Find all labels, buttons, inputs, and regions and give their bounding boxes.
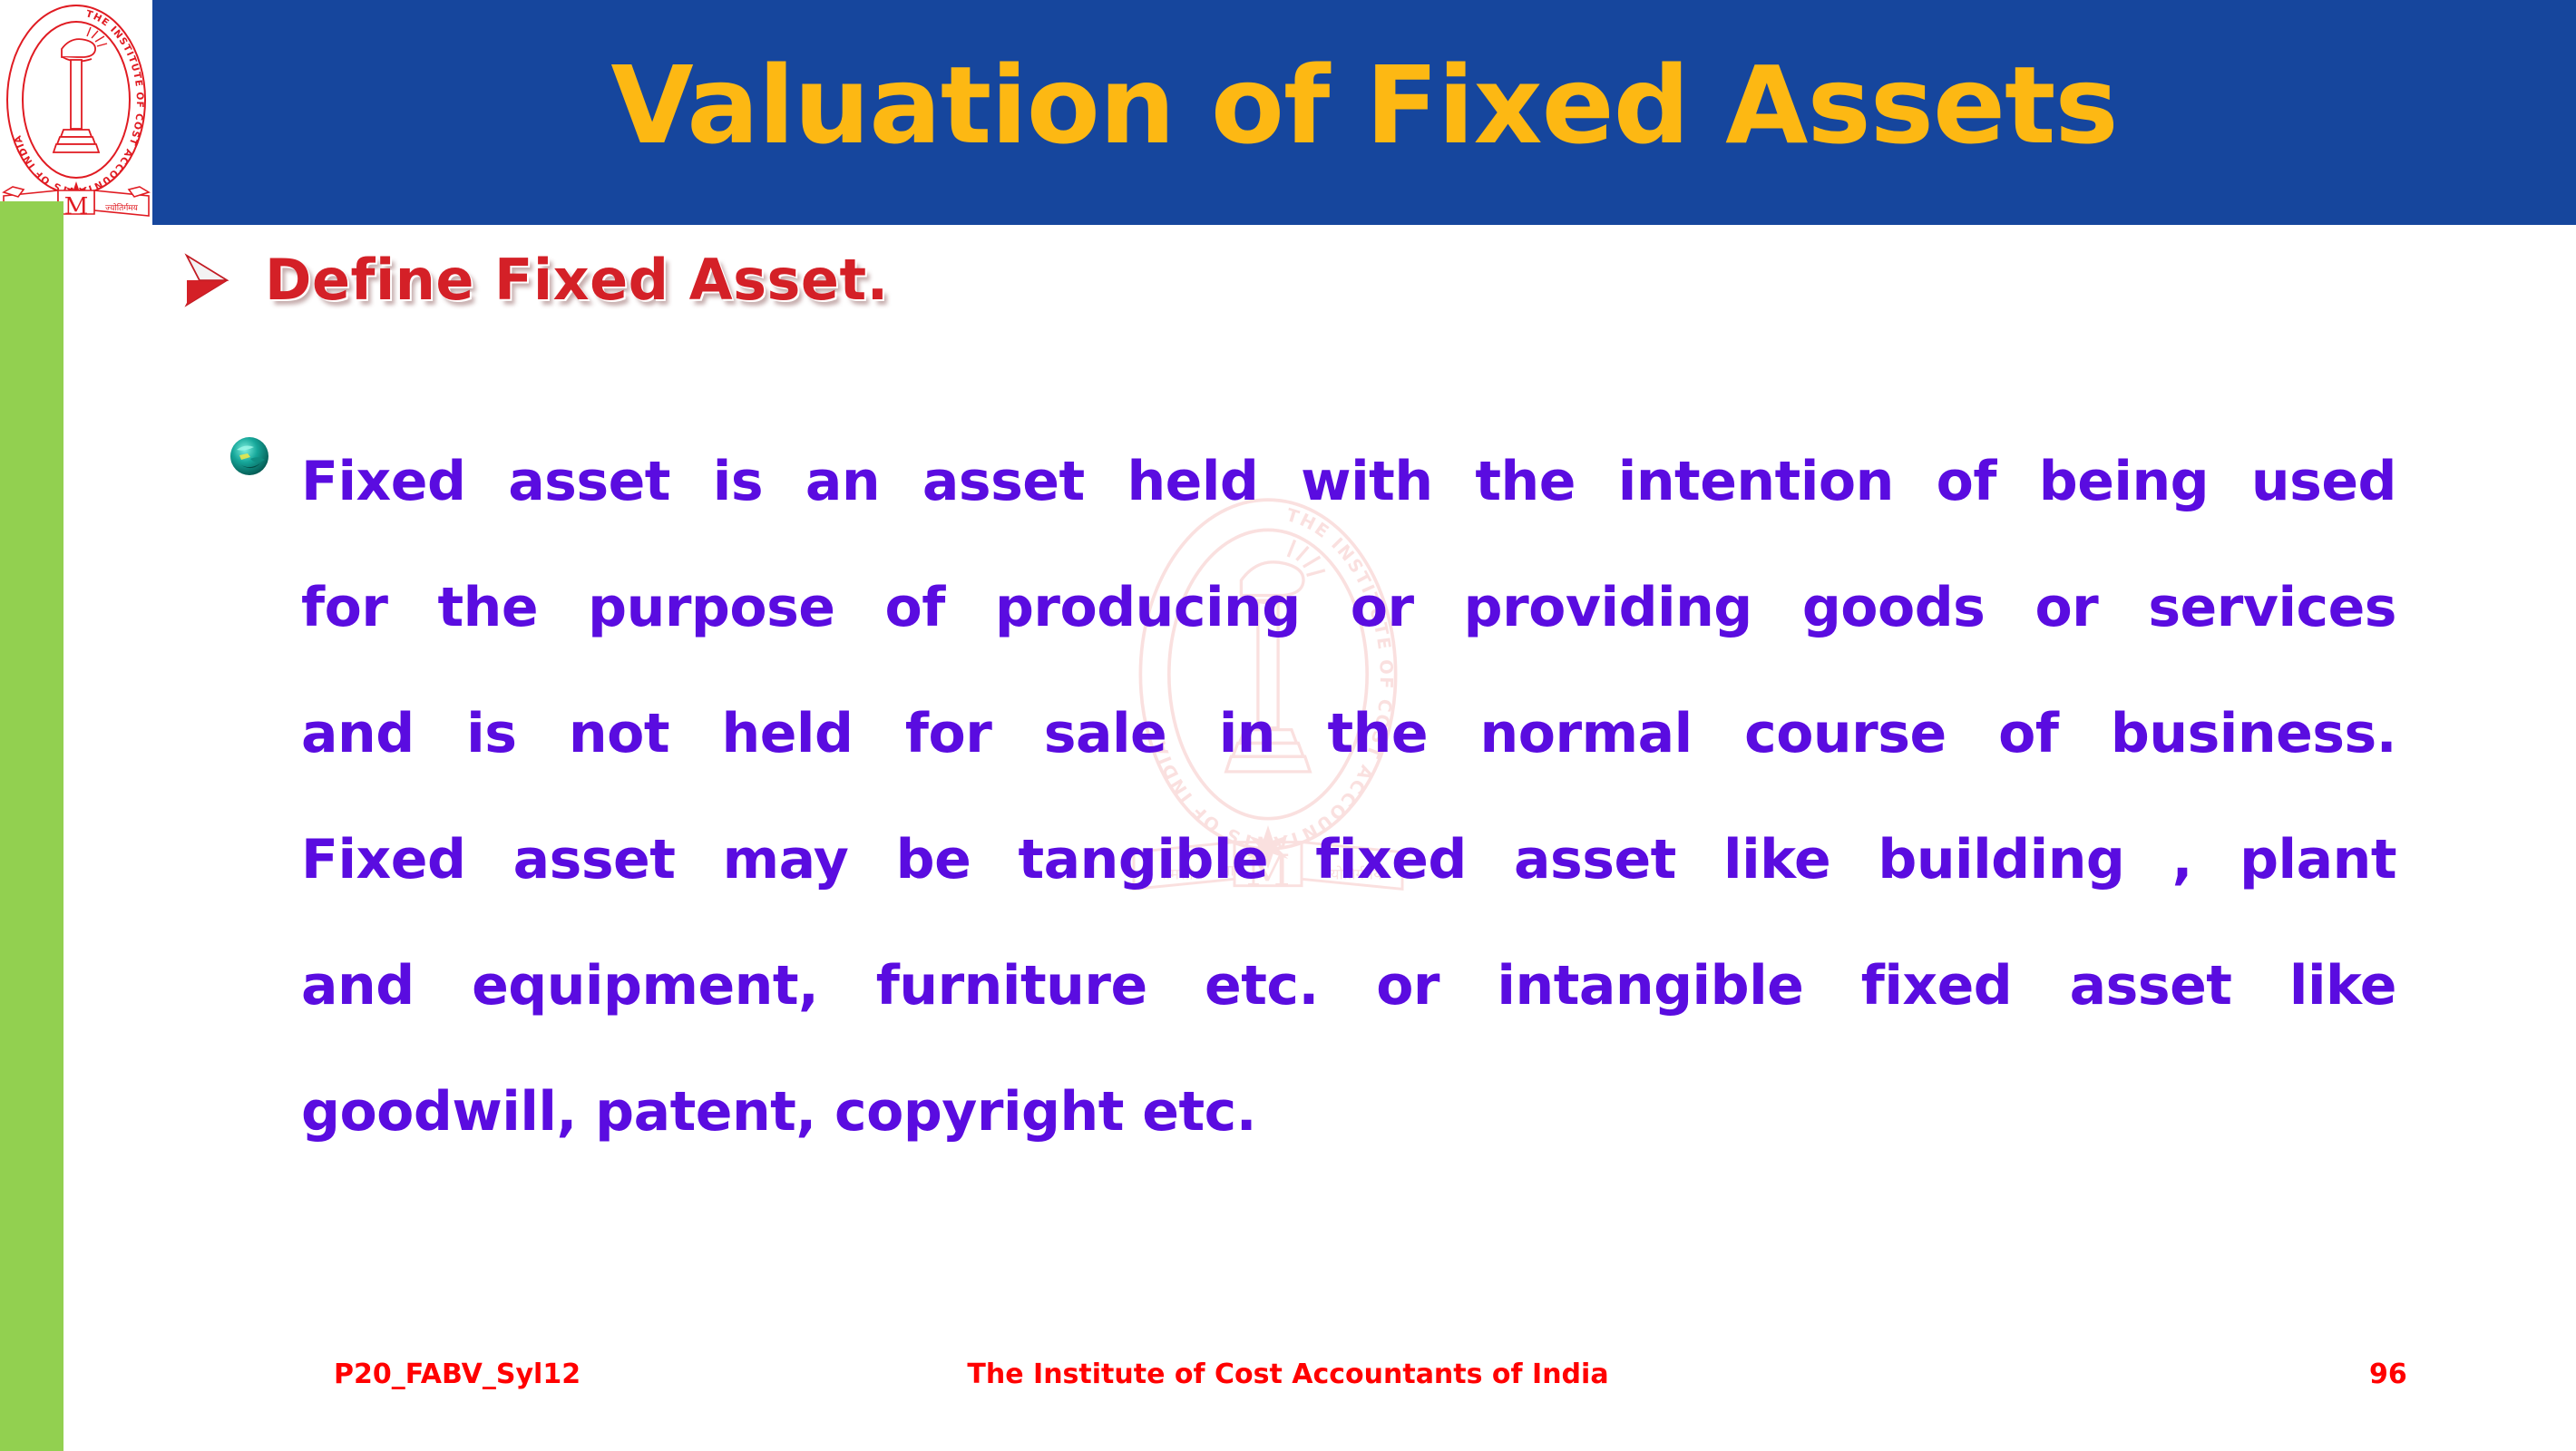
body-content: Fixed asset is an asset held with the in… (229, 419, 2396, 1175)
body-line-4: Fixed asset may be tangible fixed asset … (301, 797, 2396, 923)
footer: P20_FABV_Syl12 The Institute of Cost Acc… (0, 1358, 2576, 1406)
page-title: Valuation of Fixed Assets (152, 0, 2576, 225)
footer-page-number: 96 (2369, 1358, 2407, 1390)
footer-institute: The Institute of Cost Accountants of Ind… (0, 1358, 2576, 1390)
body-bullet-row: Fixed asset is an asset held with the in… (229, 419, 2396, 1175)
svg-text:ज्योतिर्गमय: ज्योतिर्गमय (105, 202, 139, 213)
section-heading: Define Fixed Asset. (178, 247, 889, 313)
gem-bullet-icon (229, 435, 270, 477)
body-line-6: goodwill, patent, copyright etc. (301, 1049, 2396, 1175)
left-green-stripe (0, 201, 63, 1451)
body-line-3: and is not held for sale in the normal c… (301, 671, 2396, 797)
arrow-bullet-icon (178, 252, 234, 308)
institute-logo-icon: THE INSTITUTE OF COST ACCOUNTANTS OF IND… (0, 0, 152, 230)
body-line-1: Fixed asset is an asset held with the in… (301, 419, 2396, 545)
svg-text:M: M (64, 193, 89, 220)
header-band: Valuation of Fixed Assets (152, 0, 2576, 225)
institute-logo: THE INSTITUTE OF COST ACCOUNTANTS OF IND… (0, 0, 152, 230)
section-heading-text: Define Fixed Asset. (265, 247, 889, 313)
body-line-5: and equipment, furniture etc. or intangi… (301, 923, 2396, 1049)
slide-canvas: Valuation of Fixed Assets THE INSTITUTE … (0, 0, 2576, 1451)
body-paragraph: Fixed asset is an asset held with the in… (301, 419, 2396, 1175)
body-line-2: for the purpose of producing or providin… (301, 545, 2396, 671)
